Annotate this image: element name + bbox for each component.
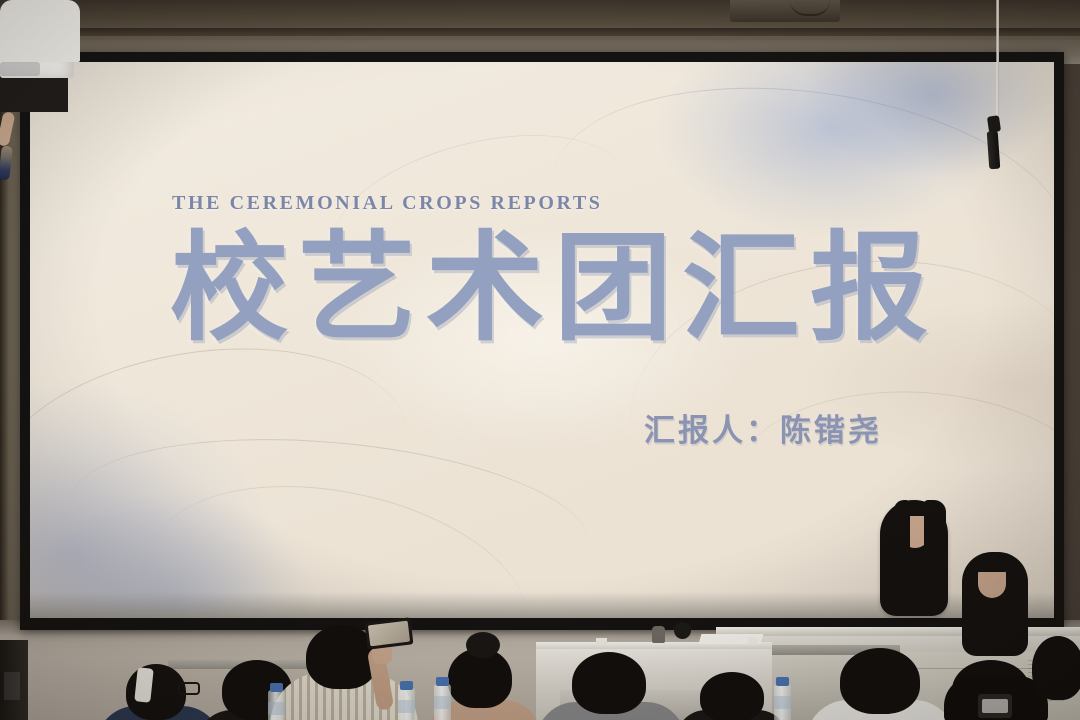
- slide-eyebrow-text: THE CEREMONIAL CROPS REPORTS: [172, 192, 603, 215]
- presenter-hair-right: [924, 500, 946, 604]
- hair-bun: [466, 632, 500, 658]
- slide-title: 校艺术团汇报: [170, 230, 938, 350]
- side-cabinet-panel: [4, 672, 20, 700]
- presenter-hair-left: [894, 500, 910, 592]
- ceiling-beam: [0, 28, 1080, 36]
- marble-vein: [64, 420, 596, 618]
- handheld-microphone: [0, 146, 13, 181]
- presenter2-fringe: [974, 556, 1008, 572]
- marble-vein: [30, 321, 425, 605]
- pull-cord: [996, 0, 999, 120]
- small-desk-object: [748, 637, 757, 645]
- presenter-second: [0, 0, 80, 76]
- audience-head: [1032, 636, 1080, 700]
- bottle-cap: [436, 677, 449, 686]
- photograph-scene: THE CEREMONIAL CROPS REPORTS 校艺术团汇报 汇报人：…: [0, 0, 1080, 720]
- presenter2-top: [0, 0, 80, 62]
- glasses-icon: [178, 682, 200, 695]
- audience-head: [840, 648, 920, 714]
- bottle-label: [434, 696, 451, 709]
- badge-graphic: [982, 699, 1008, 713]
- presenter-skirt: [0, 78, 68, 112]
- small-desk-object: [596, 638, 607, 645]
- bottle-label: [398, 700, 415, 713]
- audience-head: [572, 652, 646, 714]
- microphone-base-icon: [652, 626, 665, 643]
- slide-subtitle: 汇报人：陈锴尧: [644, 405, 882, 450]
- bottle-label: [268, 702, 285, 715]
- bottle-cap: [270, 683, 283, 692]
- presenter-arm: [0, 111, 15, 147]
- presenter2-top-print: [0, 62, 40, 76]
- round-object: [674, 622, 691, 639]
- bottle-cap: [776, 677, 789, 686]
- audience-head: [700, 672, 764, 720]
- bottle-cap: [400, 681, 413, 690]
- bottle-label: [774, 696, 791, 709]
